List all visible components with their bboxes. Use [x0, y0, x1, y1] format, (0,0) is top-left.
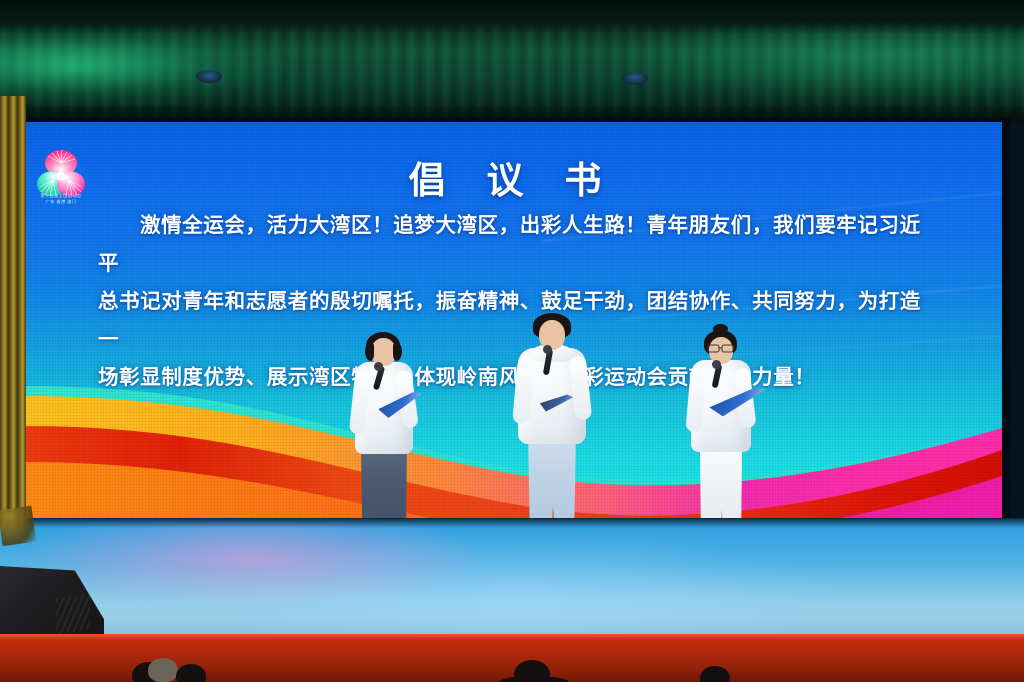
performer-right-hair-bun	[713, 324, 728, 334]
led-body-line-2: 总书记对青年和志愿者的殷切嘱托，振奋精神、鼓足干劲，团结协作、共同努力，为打造一	[98, 282, 938, 358]
stage-curtain	[0, 0, 1024, 122]
audience-head-silhouette	[176, 664, 206, 682]
led-headline-title: 倡 议 书	[22, 150, 1002, 204]
led-ribbon-waves	[22, 378, 1002, 518]
stage-scene-photo: 第十五届全国运动会 广东 香港 澳门 倡 议 书 激情全运会，活力大湾区！追梦大…	[0, 0, 1024, 682]
stage-floor-reflection	[0, 518, 1024, 636]
gold-side-curtain	[0, 96, 26, 526]
gold-side-curtain-hem	[0, 506, 36, 546]
performer-center-head	[539, 320, 565, 350]
speaker-grill-icon	[56, 593, 90, 635]
microphone-head-icon	[712, 360, 721, 369]
ribbon-wave-svg	[22, 378, 1002, 518]
curtain-top-shadow	[0, 0, 1024, 34]
stage-floor	[0, 518, 1024, 636]
stage-light-fixture-icon	[622, 72, 648, 85]
performer-left-hair-side	[365, 344, 374, 361]
curtain-light-glow-left	[0, 22, 290, 108]
glasses-icon	[707, 344, 735, 353]
microphone-head-icon	[543, 345, 552, 354]
stage-light-fixture-icon	[196, 70, 222, 83]
led-body-line-1: 激情全运会，活力大湾区！追梦大湾区，出彩人生路！青年朋友们，我们要牢记习近平	[98, 206, 938, 282]
stage-apron-lip	[0, 634, 1024, 639]
microphone-head-icon	[374, 362, 383, 371]
audience-head-silhouette	[148, 658, 178, 682]
